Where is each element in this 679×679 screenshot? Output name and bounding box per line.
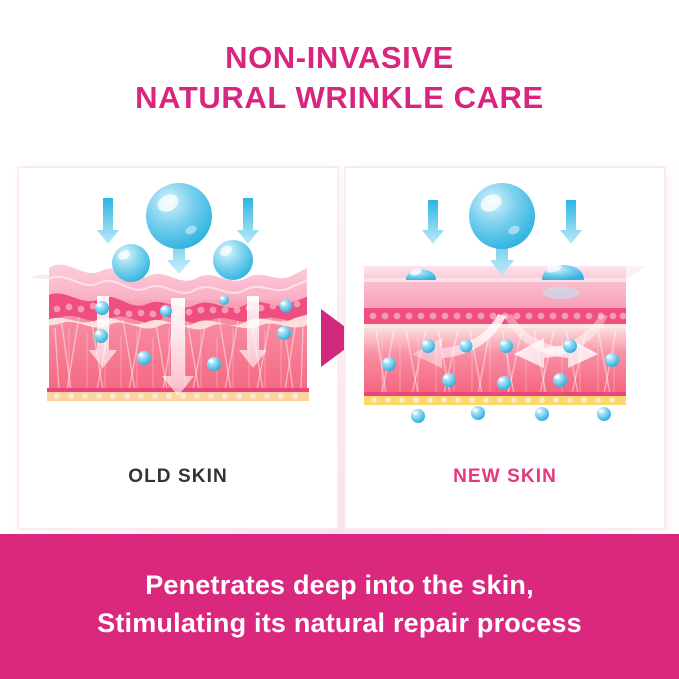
infographic-root: NON-INVASIVE NATURAL WRINKLE CARE xyxy=(0,0,679,679)
dermis-base-line xyxy=(364,392,626,396)
skin-top-plane xyxy=(364,266,626,280)
new-skin-illustration xyxy=(346,168,664,468)
page-title: NON-INVASIVE NATURAL WRINKLE CARE xyxy=(0,38,679,118)
headline-line-1: NON-INVASIVE xyxy=(225,40,454,75)
banner-text: Penetrates deep into the skin, Stimulati… xyxy=(0,566,679,642)
new-skin-caption: NEW SKIN xyxy=(346,466,664,488)
epidermis-highlight xyxy=(364,278,626,282)
old-skin-illustration xyxy=(19,168,337,468)
panel-new-skin: NEW SKIN xyxy=(345,167,665,529)
panel-old-skin: OLD SKIN xyxy=(18,167,338,529)
old-skin-svg xyxy=(19,168,337,468)
banner-line-1: Penetrates deep into the skin, xyxy=(0,566,679,604)
new-skin-svg xyxy=(346,168,664,468)
old-skin-caption: OLD SKIN xyxy=(19,466,337,488)
epidermis-layer xyxy=(364,278,626,308)
headline-line-2: NATURAL WRINKLE CARE xyxy=(0,78,679,118)
bottom-banner: Penetrates deep into the skin, Stimulati… xyxy=(0,534,679,679)
banner-line-2: Stimulating its natural repair process xyxy=(0,604,679,642)
